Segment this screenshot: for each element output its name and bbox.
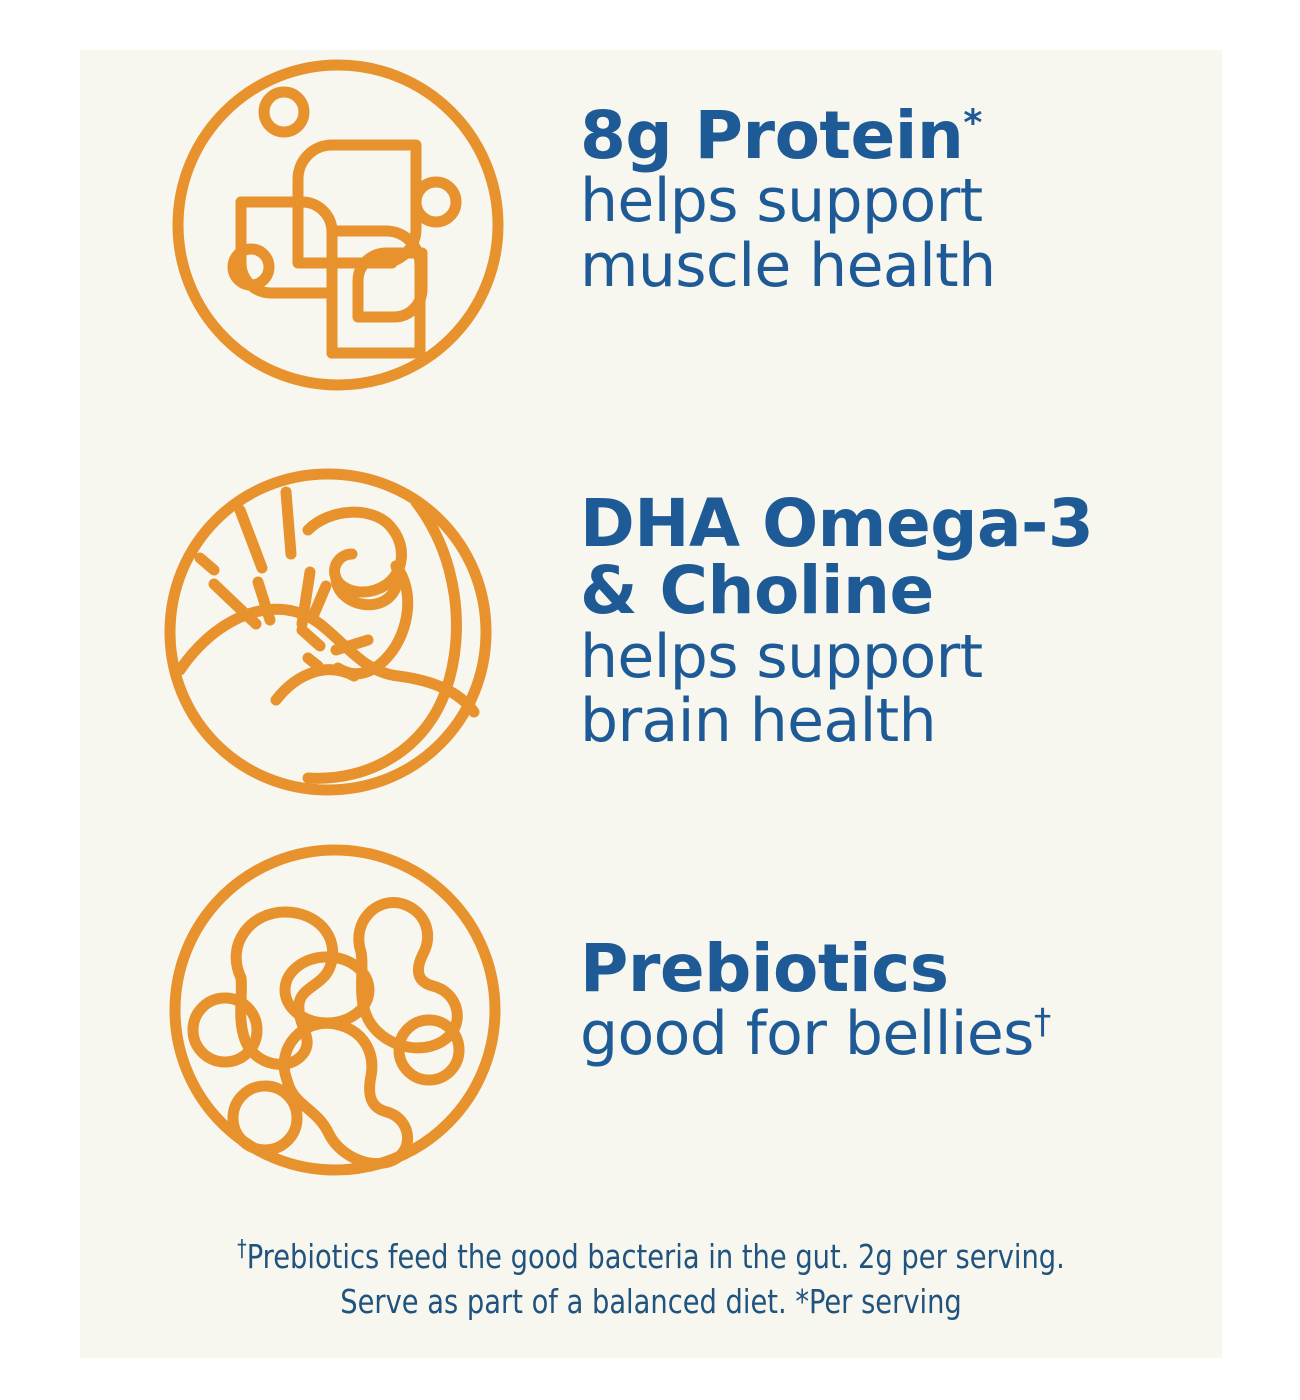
benefit-row-dha: DHA Omega-3 & Choline helps support brai… bbox=[80, 450, 1222, 840]
prebiotics-text-block: Prebiotics good for bellies† bbox=[580, 935, 1051, 1067]
prebiotics-headline: Prebiotics bbox=[580, 935, 1051, 1002]
dagger-icon: † bbox=[237, 1236, 247, 1262]
dha-text-block: DHA Omega-3 & Choline helps support brai… bbox=[580, 490, 1093, 754]
protein-molecule-icon bbox=[168, 55, 508, 395]
protein-subline-1: helps support bbox=[580, 169, 996, 234]
footnote-line-2: Serve as part of a balanced diet. *Per s… bbox=[126, 1280, 1177, 1325]
protein-headline: 8g Protein* bbox=[580, 102, 996, 169]
dagger-icon: † bbox=[1034, 1002, 1051, 1042]
flexing-arm-icon bbox=[158, 462, 498, 802]
footnote-line-1: †Prebiotics feed the good bacteria in th… bbox=[126, 1235, 1177, 1280]
benefit-row-protein: 8g Protein* helps support muscle health bbox=[80, 50, 1222, 450]
footnote: †Prebiotics feed the good bacteria in th… bbox=[126, 1235, 1177, 1324]
protein-text-block: 8g Protein* helps support muscle health bbox=[580, 102, 996, 299]
dha-subline-1: helps support bbox=[580, 625, 1093, 690]
benefits-panel: 8g Protein* helps support muscle health bbox=[80, 50, 1222, 1358]
prebiotics-subline-1: good for bellies† bbox=[580, 1002, 1051, 1067]
dha-headline-line1: DHA Omega-3 bbox=[580, 490, 1093, 557]
protein-asterisk: * bbox=[963, 101, 981, 144]
protein-subline-2: muscle health bbox=[580, 234, 996, 299]
bacteria-icon bbox=[165, 840, 505, 1180]
dha-headline-line2: & Choline bbox=[580, 557, 1093, 624]
benefit-row-prebiotics: Prebiotics good for bellies† bbox=[80, 840, 1222, 1220]
dha-subline-2: brain health bbox=[580, 689, 1093, 754]
